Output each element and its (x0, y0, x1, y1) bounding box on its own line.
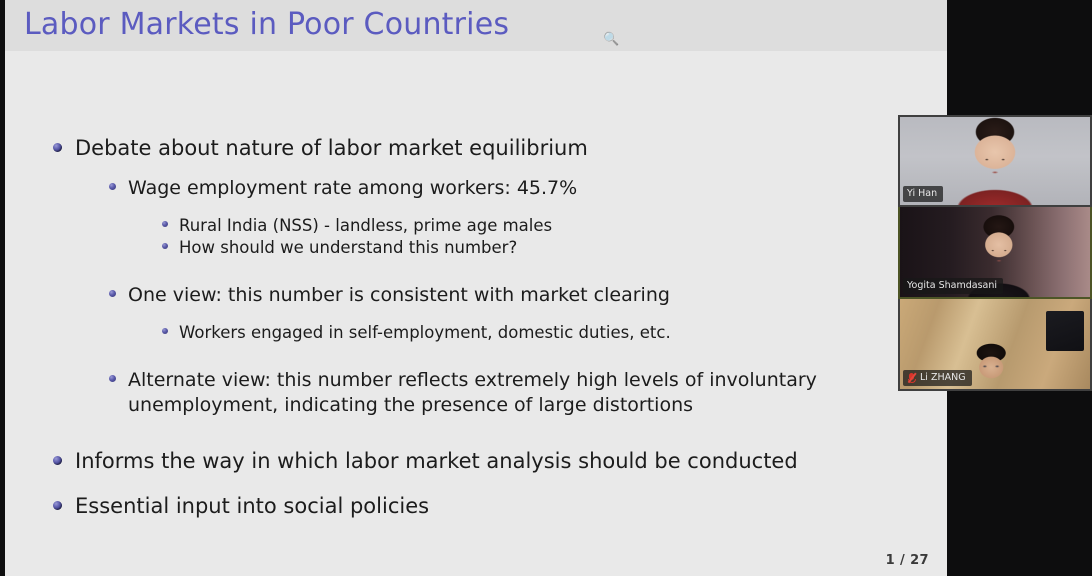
participant-tile-yogita-shamdasani[interactable]: Yogita Shamdasani (898, 207, 1092, 299)
bullet-item: How should we understand this number? (162, 237, 947, 259)
bullet-text: Informs the way in which labor market an… (75, 448, 798, 475)
bullet-marker-icon (109, 290, 116, 297)
bullet-item: Debate about nature of labor market equi… (53, 135, 947, 162)
bullet-marker-icon (53, 501, 62, 510)
participant-name-badge: Yogita Shamdasani (903, 278, 1003, 294)
bullet-marker-icon (109, 375, 116, 382)
shared-slide[interactable]: Labor Markets in Poor Countries 🔍 Debate… (5, 0, 947, 576)
bullet-item: One view: this number is consistent with… (109, 283, 947, 308)
participant-tile-yi-han[interactable]: Yi Han (898, 115, 1092, 207)
bullet-marker-icon (109, 183, 116, 190)
participant-name: Yogita Shamdasani (907, 280, 997, 292)
participant-video-strip: Yi Han Yogita Shamdasani Li ZHANG (898, 115, 1092, 391)
bullet-item: Informs the way in which labor market an… (53, 448, 947, 475)
participant-name-badge: Li ZHANG (903, 370, 972, 386)
magnifier-cursor-icon: 🔍 (603, 33, 617, 47)
bullet-item: Workers engaged in self-employment, dome… (162, 322, 947, 344)
bullet-marker-icon (162, 221, 168, 227)
bullet-marker-icon (53, 143, 62, 152)
bullet-text: How should we understand this number? (179, 237, 517, 259)
bullet-text: Essential input into social policies (75, 493, 429, 520)
screen-share-view: Labor Markets in Poor Countries 🔍 Debate… (0, 0, 1092, 576)
bullet-marker-icon (53, 456, 62, 465)
window-left-frame (0, 0, 5, 576)
bullet-marker-icon (162, 328, 168, 334)
participant-name: Li ZHANG (920, 372, 966, 384)
bullet-text: Alternate view: this number reflects ext… (128, 368, 887, 418)
participant-tile-li-zhang[interactable]: Li ZHANG (898, 299, 1092, 391)
participant-name-badge: Yi Han (903, 186, 943, 202)
bullet-text: Workers engaged in self-employment, dome… (179, 322, 671, 344)
slide-title: Labor Markets in Poor Countries (24, 5, 509, 45)
slide-body: Debate about nature of labor market equi… (5, 51, 947, 556)
bullet-text: Debate about nature of labor market equi… (75, 135, 588, 162)
bullet-marker-icon (162, 243, 168, 249)
bullet-text: One view: this number is consistent with… (128, 283, 670, 308)
bullet-item: Wage employment rate among workers: 45.7… (109, 176, 947, 201)
bullet-text: Rural India (NSS) - landless, prime age … (179, 215, 552, 237)
bullet-item: Essential input into social policies (53, 493, 947, 520)
bullet-text: Wage employment rate among workers: 45.7… (128, 176, 577, 201)
slide-page-indicator: 1 / 27 (886, 553, 929, 568)
bullet-item: Rural India (NSS) - landless, prime age … (162, 215, 947, 237)
participant-name: Yi Han (907, 188, 937, 200)
muted-microphone-icon (907, 373, 916, 384)
bullet-item: Alternate view: this number reflects ext… (109, 368, 887, 418)
